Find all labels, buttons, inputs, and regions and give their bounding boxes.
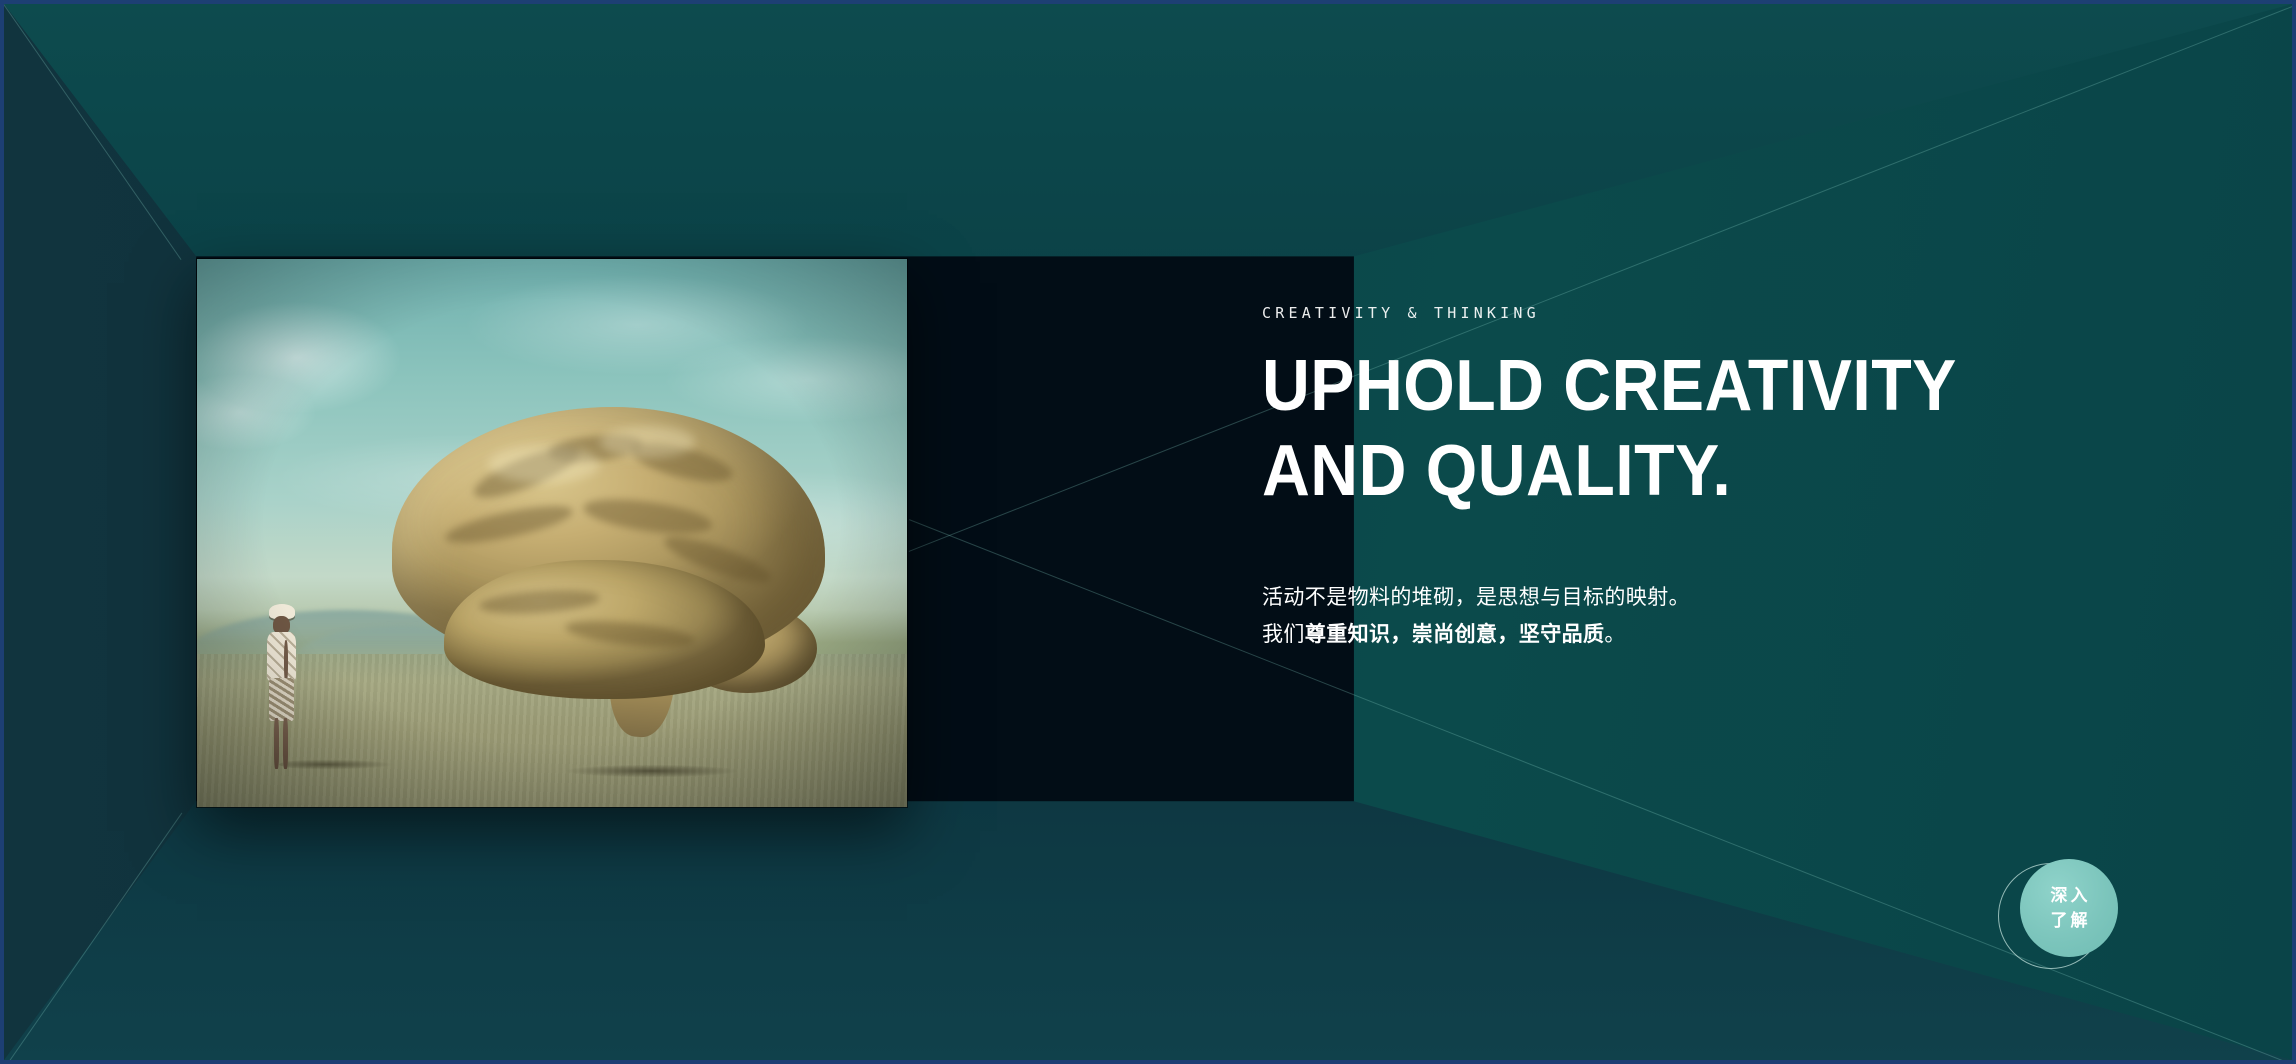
hero-lede-suffix: 。 [1604,623,1625,646]
hero-eyebrow: CREATIVITY & THINKING [1262,304,2122,322]
hero-banner: CREATIVITY & THINKING UPHOLD CREATIVITY … [0,0,2296,1064]
hero-lede: 活动不是物料的堆砌，是思想与目标的映射。 我们尊重知识，崇尚创意，坚守品质。 [1262,580,2122,654]
hero-lede-strong: 尊重知识，崇尚创意，坚守品质 [1305,623,1605,646]
hero-headline-line-2: AND QUALITY. [1262,429,2053,514]
hero-copy: CREATIVITY & THINKING UPHOLD CREATIVITY … [1262,304,2122,653]
hero-headline-line-1: UPHOLD CREATIVITY [1262,344,2053,429]
artwork-vignette [197,259,907,807]
hero-lede-line-1: 活动不是物料的堆砌，是思想与目标的映射。 [1262,580,2122,617]
learn-more-button[interactable]: 深入 了解 [2012,859,2120,967]
hero-artwork [197,259,907,807]
learn-more-label-line-1: 深入 [2048,883,2091,909]
learn-more-label: 深入 了解 [2020,859,2118,957]
hero-headline: UPHOLD CREATIVITY AND QUALITY. [1262,344,2053,514]
hero-lede-line-2: 我们尊重知识，崇尚创意，坚守品质。 [1262,617,2122,654]
learn-more-label-line-2: 了解 [2048,908,2091,934]
hero-lede-prefix: 我们 [1262,623,1305,646]
